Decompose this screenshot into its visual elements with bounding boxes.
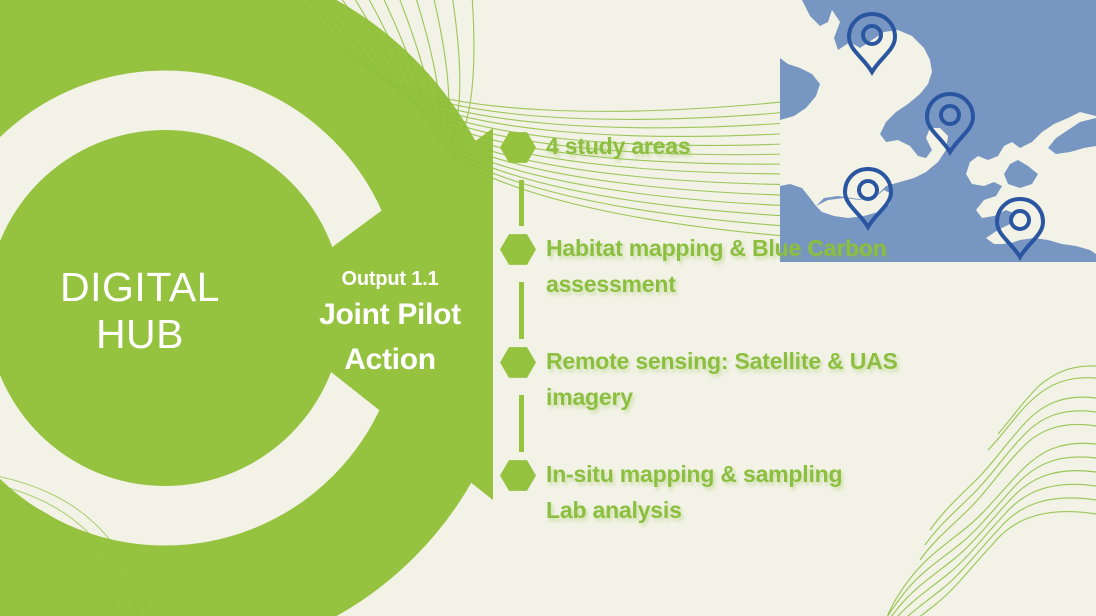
list-item-label: 4 study areas [546,124,970,164]
activity-bullet-list: 4 study areas Habitat mapping & Blue Car… [500,124,970,542]
output-block: Output 1.1 Joint Pilot Action [296,266,484,382]
list-item[interactable]: 4 study areas [500,124,970,226]
hexagon-bullet-wrap [500,452,546,499]
hexagon-bullet-wrap [500,339,546,386]
hexagon-bullet-wrap [500,124,546,171]
list-item-label: Remote sensing: Satellite & UAS imagery [546,339,970,415]
connector-line [519,282,524,339]
hexagon-bullet-icon [500,234,536,266]
connector-line [519,180,524,226]
connector-line [519,395,524,452]
list-item-label: In-situ mapping & sampling Lab analysis [546,452,970,528]
hexagon-bullet-icon [500,347,536,379]
slide-canvas: DIGITAL HUB Output 1.1 Joint Pilot Actio… [0,0,1096,616]
hexagon-bullet-icon [500,460,536,492]
output-label: Output 1.1 [296,266,484,292]
list-item[interactable]: Remote sensing: Satellite & UAS imagery [500,339,970,452]
list-item[interactable]: Habitat mapping & Blue Carbon assessment [500,226,970,339]
digital-hub-wordmark: DIGITAL HUB [10,264,270,358]
output-title: Joint Pilot Action [296,292,484,382]
list-item[interactable]: In-situ mapping & sampling Lab analysis [500,452,970,542]
hexagon-bullet-wrap [500,226,546,273]
list-item-label: Habitat mapping & Blue Carbon assessment [546,226,970,302]
hexagon-bullet-icon [500,132,536,164]
